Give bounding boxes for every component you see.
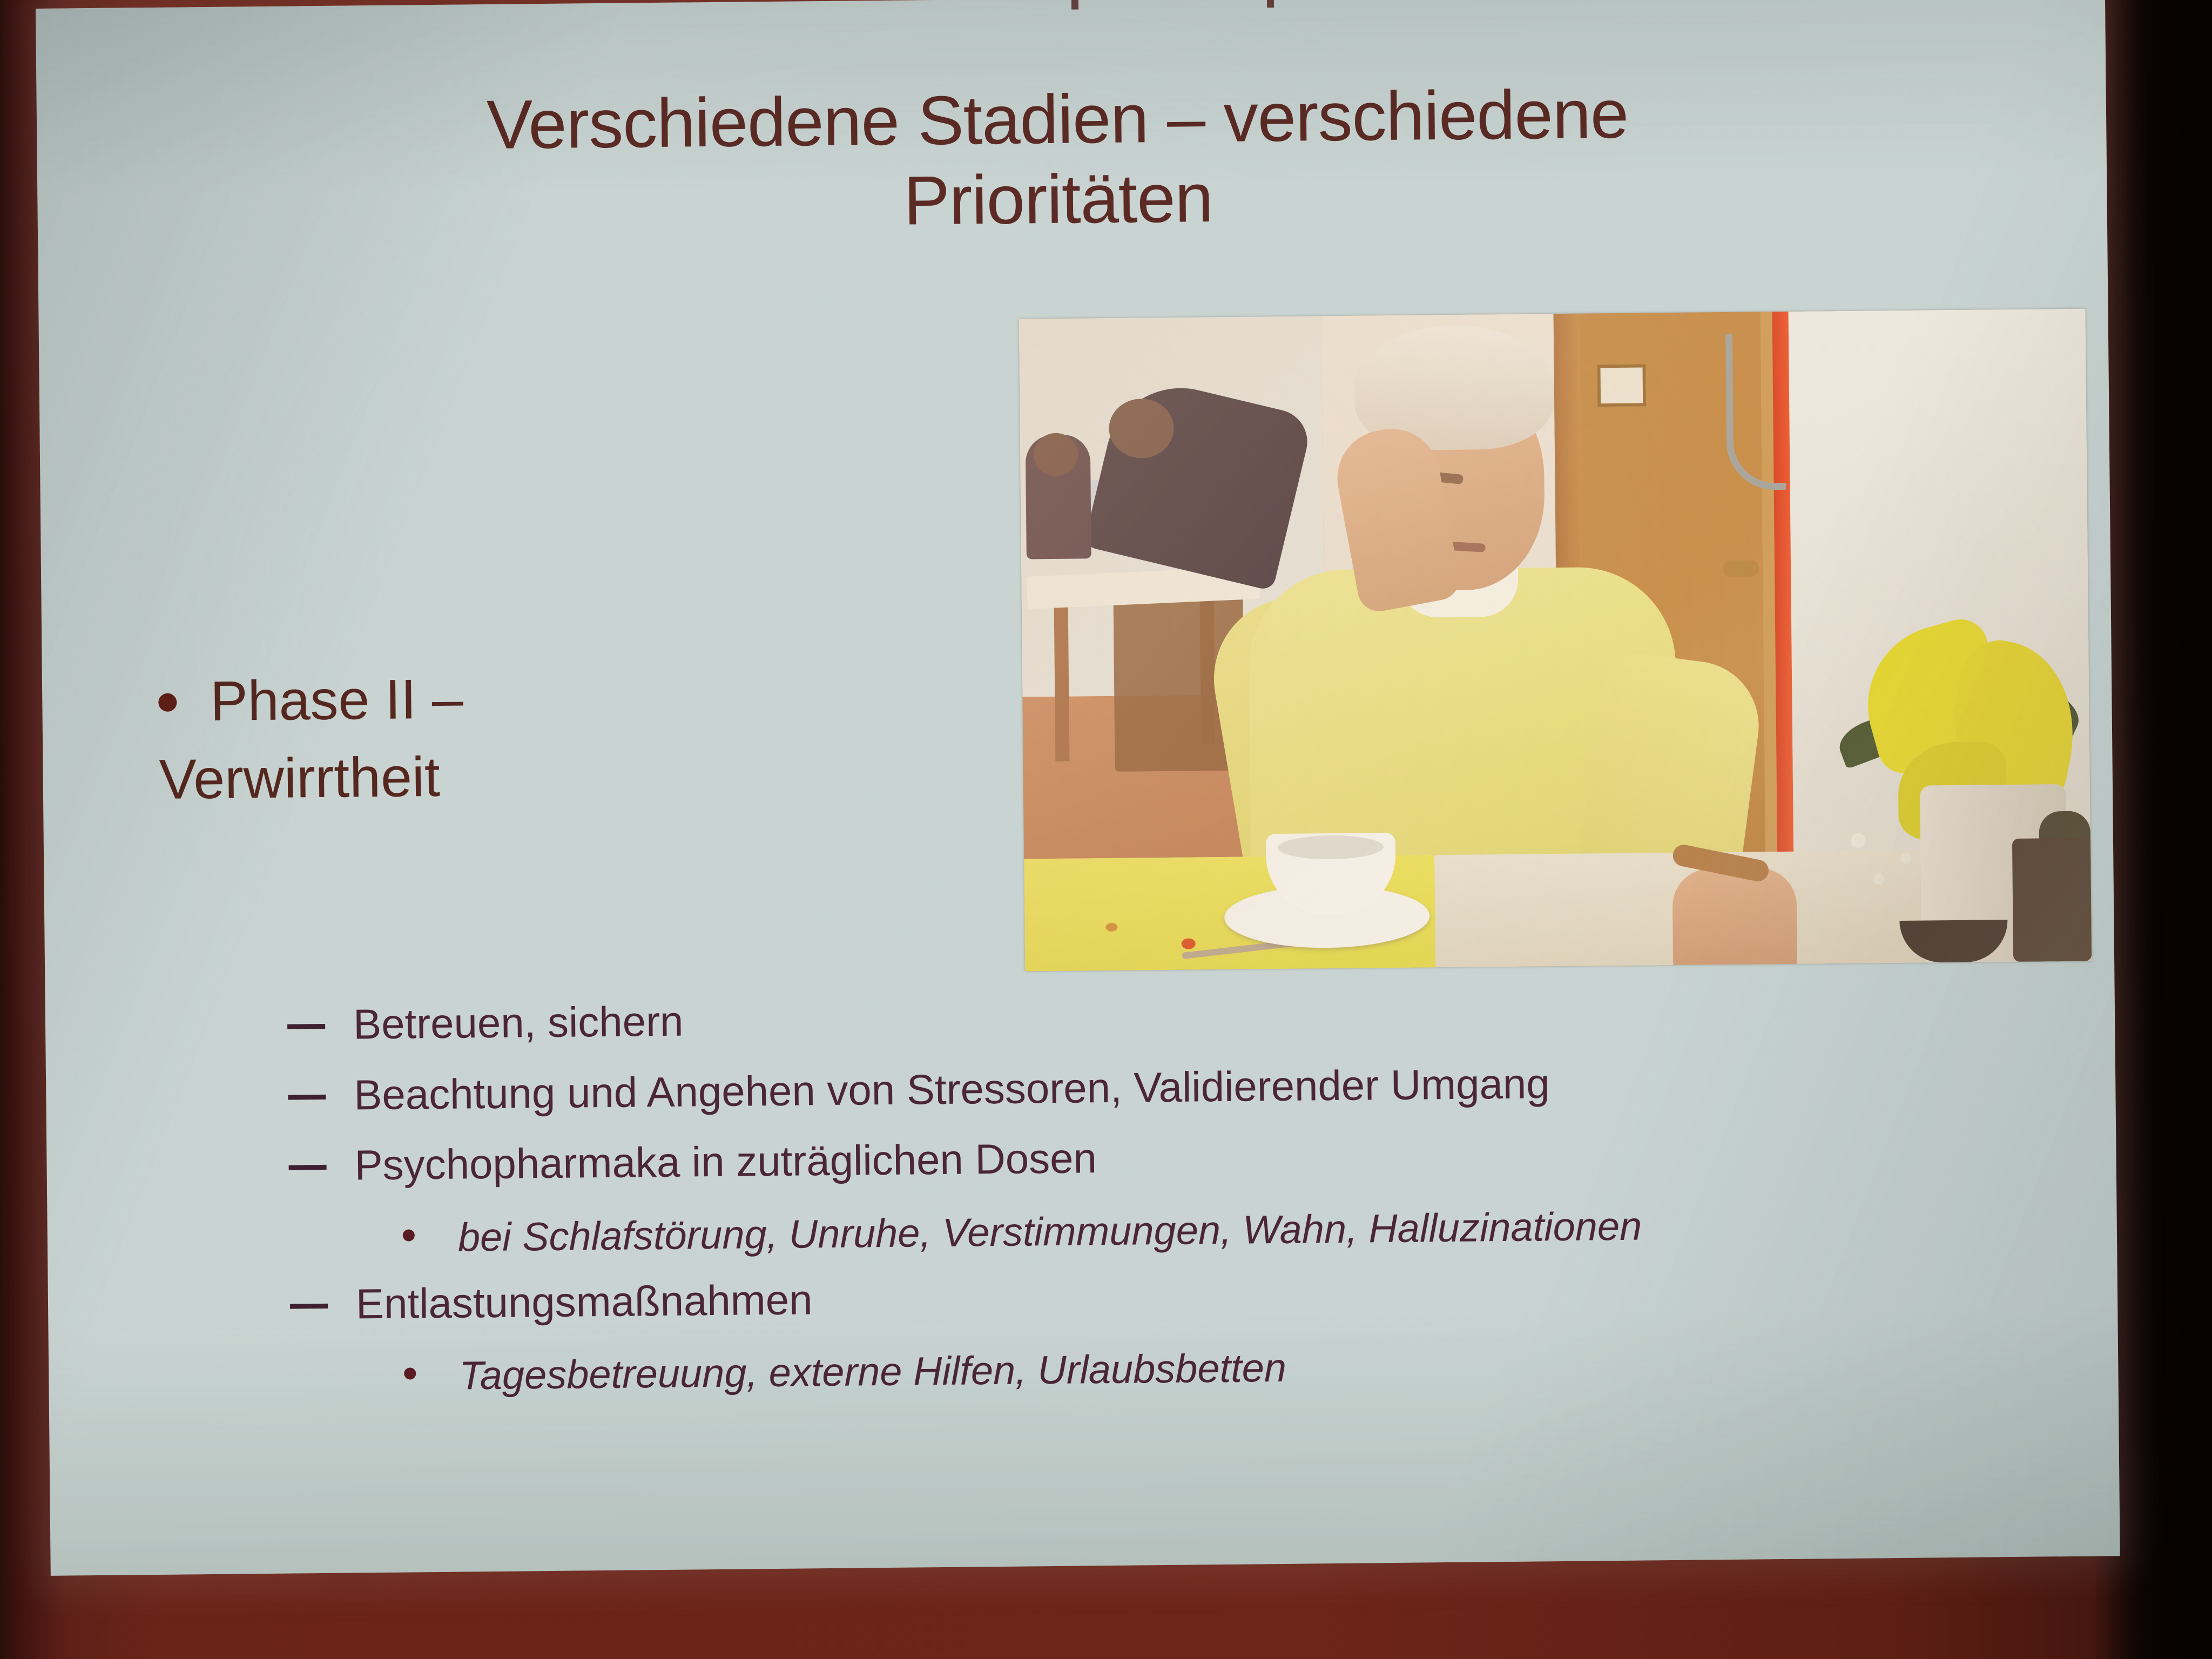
sub-bullet-label-2: Beachtung und Angehen von Stressoren, Va… [354,1060,1550,1118]
sub-bullet-item-2: Beachtung und Angehen von Stressoren, Va… [278,1056,2088,1118]
dash-bullet-icon [289,1165,327,1170]
photo-door-handle [1723,560,1759,577]
dash-bullet-icon [290,1304,328,1309]
photo-bg-person-2-head [1034,433,1078,477]
slide-title: Verschiedene Stadien – verschiedene Prio… [198,72,1917,248]
photo-door-sign [1597,364,1646,407]
slide-photo-elderly-woman [1019,309,2092,972]
sub-bullet-label-3: Psychopharmaka in zuträglichen Dosen [354,1135,1097,1189]
sub-bullet-label-4: Entlastungsmaßnahmen [356,1276,813,1327]
sub-bullet-list: Betreuen, sichern Beachtung und Angehen … [278,986,2090,1421]
sub-sub-bullet-label-1: bei Schlafstörung, Unruhe, Verstimmungen… [457,1204,1642,1260]
sub-bullet-label-1: Betreuen, sichern [353,997,684,1048]
clipped-text-artifact-1 [1071,0,1078,10]
sub-bullet-item-3: Psychopharmaka in zuträglichen Dosen [279,1127,2088,1189]
sub-bullet-item-1: Betreuen, sichern [278,986,2087,1048]
photo-tablecloth-motif-1 [1182,938,1196,949]
dash-bullet-icon [288,1095,326,1100]
slide-title-line-2: Prioritäten [199,152,1917,248]
photo-dark-object-right [2012,838,2092,962]
dash-bullet-icon [287,1024,325,1029]
phase-label-line-1: Phase II – [210,667,463,732]
photo-bg-table-leg-1 [1054,599,1070,761]
photo-wall-hook [1725,333,1786,490]
phase-label-line-2: Verwirrtheit [159,733,942,818]
phase-bullet: Phase II – Verwirrtheit [158,656,943,819]
sub-sub-bullet-item-1: bei Schlafstörung, Unruhe, Verstimmungen… [279,1197,2089,1264]
round-bullet-icon [404,1368,416,1380]
sub-sub-bullet-label-2: Tagesbetreuung, externe Hilfen, Urlaubsb… [459,1345,1286,1398]
sub-bullet-item-4: Entlastungsmaßnahmen [280,1265,2090,1327]
photo-babys-breath [1817,812,1953,905]
sub-sub-bullet-item-2: Tagesbetreuung, externe Hilfen, Urlaubsb… [281,1336,2090,1402]
photo-bg-person-1-head [1109,399,1174,458]
round-bullet-icon [403,1229,415,1241]
clipped-text-artifact-2 [1267,0,1274,8]
photo-woman-right-hand [1672,868,1797,972]
bullet-dot-icon [158,693,177,711]
presentation-slide: Verschiedene Stadien – verschiedene Prio… [36,0,2120,1576]
